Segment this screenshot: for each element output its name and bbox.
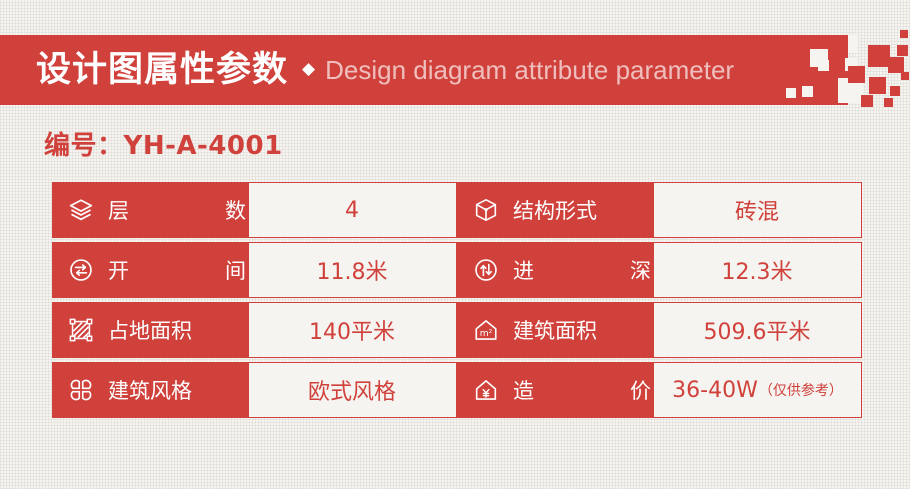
- table-row: 开 间 11.8米 进 深 12.3米: [52, 242, 862, 298]
- label-text: 造 价: [513, 375, 669, 405]
- page-subtitle: Design diagram attribute parameter: [325, 57, 734, 83]
- value-text: 140平米: [309, 314, 395, 346]
- label-cell-cost: 造 价: [457, 362, 653, 418]
- value-cell-width: 11.8米: [248, 242, 457, 298]
- diamond-separator-icon: ◆: [302, 60, 315, 77]
- table-cell-pair-right: m² 建筑面积 509.6平米: [457, 302, 862, 358]
- value-cell-structure: 砖混: [653, 182, 862, 238]
- house-yuan-icon: [473, 377, 499, 403]
- label-cell-structure: 结构形式: [457, 182, 653, 238]
- label-text: 占地面积: [108, 315, 192, 345]
- table-row: 占地面积 140平米 m² 建筑面积 509.6平米: [52, 302, 862, 358]
- land-area-icon: [68, 317, 94, 343]
- label-text: 结构形式: [513, 195, 597, 225]
- label-text: 层 数: [108, 195, 264, 225]
- value-text: 36-40W: [672, 378, 758, 403]
- value-text: 509.6平米: [704, 314, 811, 346]
- value-note: （仅供参考）: [759, 380, 843, 400]
- value-text: 砖混: [735, 194, 779, 226]
- value-text: 12.3米: [722, 254, 793, 286]
- cube-icon: [473, 197, 499, 223]
- label-text: 建筑面积: [513, 315, 597, 345]
- value-cell-land-area: 140平米: [248, 302, 457, 358]
- value-cell-cost: 36-40W（仅供参考）: [653, 362, 862, 418]
- table-row: 层 数 4 结构形式 砖混: [52, 182, 862, 238]
- label-cell-style: 建筑风格: [52, 362, 248, 418]
- header-banner: 设计图属性参数 ◆ Design diagram attribute param…: [0, 35, 848, 105]
- parameter-table: 层 数 4 结构形式 砖混: [52, 182, 862, 418]
- width-arrows-icon: [68, 257, 94, 283]
- table-cell-pair-left: 建筑风格 欧式风格: [52, 362, 457, 418]
- house-sqm-icon: m²: [473, 317, 499, 343]
- table-cell-pair-left: 开 间 11.8米: [52, 242, 457, 298]
- page-title: 设计图属性参数: [36, 53, 288, 88]
- table-cell-pair-left: 占地面积 140平米: [52, 302, 457, 358]
- table-cell-pair-right: 造 价 36-40W（仅供参考）: [457, 362, 862, 418]
- label-text: 进 深: [513, 255, 669, 285]
- value-cell-style: 欧式风格: [248, 362, 457, 418]
- value-text: 11.8米: [317, 254, 388, 286]
- label-text: 开 间: [108, 255, 264, 285]
- value-text: 欧式风格: [308, 374, 396, 406]
- svg-text:m²: m²: [480, 329, 493, 339]
- value-cell-depth: 12.3米: [653, 242, 862, 298]
- table-row: 建筑风格 欧式风格 造 价 36-40W（仅供参考）: [52, 362, 862, 418]
- value-cell-building-area: 509.6平米: [653, 302, 862, 358]
- value-text: 4: [345, 198, 359, 223]
- table-cell-pair-left: 层 数 4: [52, 182, 457, 238]
- label-cell-floors: 层 数: [52, 182, 248, 238]
- value-cell-floors: 4: [248, 182, 457, 238]
- table-cell-pair-right: 结构形式 砖混: [457, 182, 862, 238]
- layers-icon: [68, 197, 94, 223]
- depth-arrows-icon: [473, 257, 499, 283]
- table-cell-pair-right: 进 深 12.3米: [457, 242, 862, 298]
- design-id-label: 编号：YH-A-4001: [44, 125, 283, 162]
- label-cell-width: 开 间: [52, 242, 248, 298]
- style-grid-icon: [68, 377, 94, 403]
- label-cell-depth: 进 深: [457, 242, 653, 298]
- label-text: 建筑风格: [108, 375, 192, 405]
- label-cell-building-area: m² 建筑面积: [457, 302, 653, 358]
- label-cell-land-area: 占地面积: [52, 302, 248, 358]
